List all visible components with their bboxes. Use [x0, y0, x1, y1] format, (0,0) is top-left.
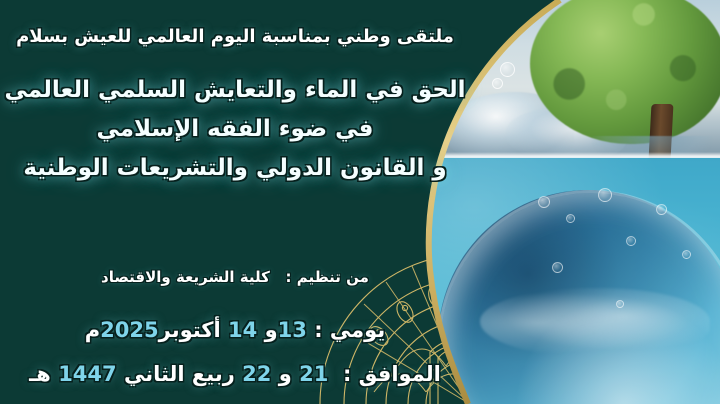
- gregorian-year: 2025: [100, 318, 158, 342]
- title-line-1: الحق في الماء والتعايش السلمي العالمي: [0, 76, 470, 106]
- gregorian-month: أكتوبر: [159, 318, 221, 342]
- gregorian-day-2: 14: [228, 318, 257, 342]
- hijri-year: 1447: [58, 362, 116, 386]
- hijri-day-2: 22: [242, 362, 271, 386]
- underwater-bubble-icon: [538, 196, 550, 208]
- hijri-month: ربيع الثاني: [124, 362, 235, 386]
- hijri-suffix: هـ: [29, 362, 51, 386]
- underwater-bubble-icon: [682, 250, 691, 259]
- air-bubble-icon: [492, 78, 503, 89]
- organizer-line: من تنظيم : كلية الشريعة والاقتصاد: [0, 268, 470, 286]
- page-title: الحق في الماء والتعايش السلمي العالمي في…: [0, 76, 470, 184]
- hijri-label: الموافق :: [343, 362, 441, 386]
- gregorian-conjunction: و: [265, 318, 278, 342]
- air-bubble-icon: [500, 62, 515, 77]
- gregorian-suffix: م: [85, 318, 100, 342]
- hijri-day-1: 21: [299, 362, 328, 386]
- organizer-label: من تنظيم :: [285, 268, 368, 286]
- title-line-2: في ضوء الفقه الإسلامي: [0, 115, 470, 145]
- hijri-date-line: الموافق : 21 و 22 ربيع الثاني 1447 هـ: [0, 362, 470, 386]
- underwater-bubble-icon: [552, 262, 563, 273]
- air-bubble-icon: [476, 56, 489, 69]
- event-kicker: ملتقى وطني بمناسبة اليوم العالمي للعيش ب…: [0, 26, 470, 47]
- gregorian-date-line: يومي : 13و 14 أكتوبر2025م: [0, 318, 470, 342]
- air-bubble-icon: [490, 50, 500, 60]
- title-line-3: و القانون الدولي والتشريعات الوطنية: [0, 154, 470, 184]
- conference-poster: ملتقى وطني بمناسبة اليوم العالمي للعيش ب…: [0, 0, 720, 404]
- underwater-bubble-icon: [626, 236, 636, 246]
- underwater-bubble-icon: [656, 204, 667, 215]
- organizer-value: كلية الشريعة والاقتصاد: [101, 268, 270, 286]
- hijri-conjunction: و: [279, 362, 292, 386]
- gregorian-day-1: 13: [278, 318, 307, 342]
- underwater-bubble-icon: [598, 188, 612, 202]
- gregorian-label: يومي :: [314, 318, 385, 342]
- underwater-bubble-icon: [566, 214, 575, 223]
- underwater-bubble-icon: [616, 300, 624, 308]
- poster-text-block: ملتقى وطني بمناسبة اليوم العالمي للعيش ب…: [0, 0, 470, 404]
